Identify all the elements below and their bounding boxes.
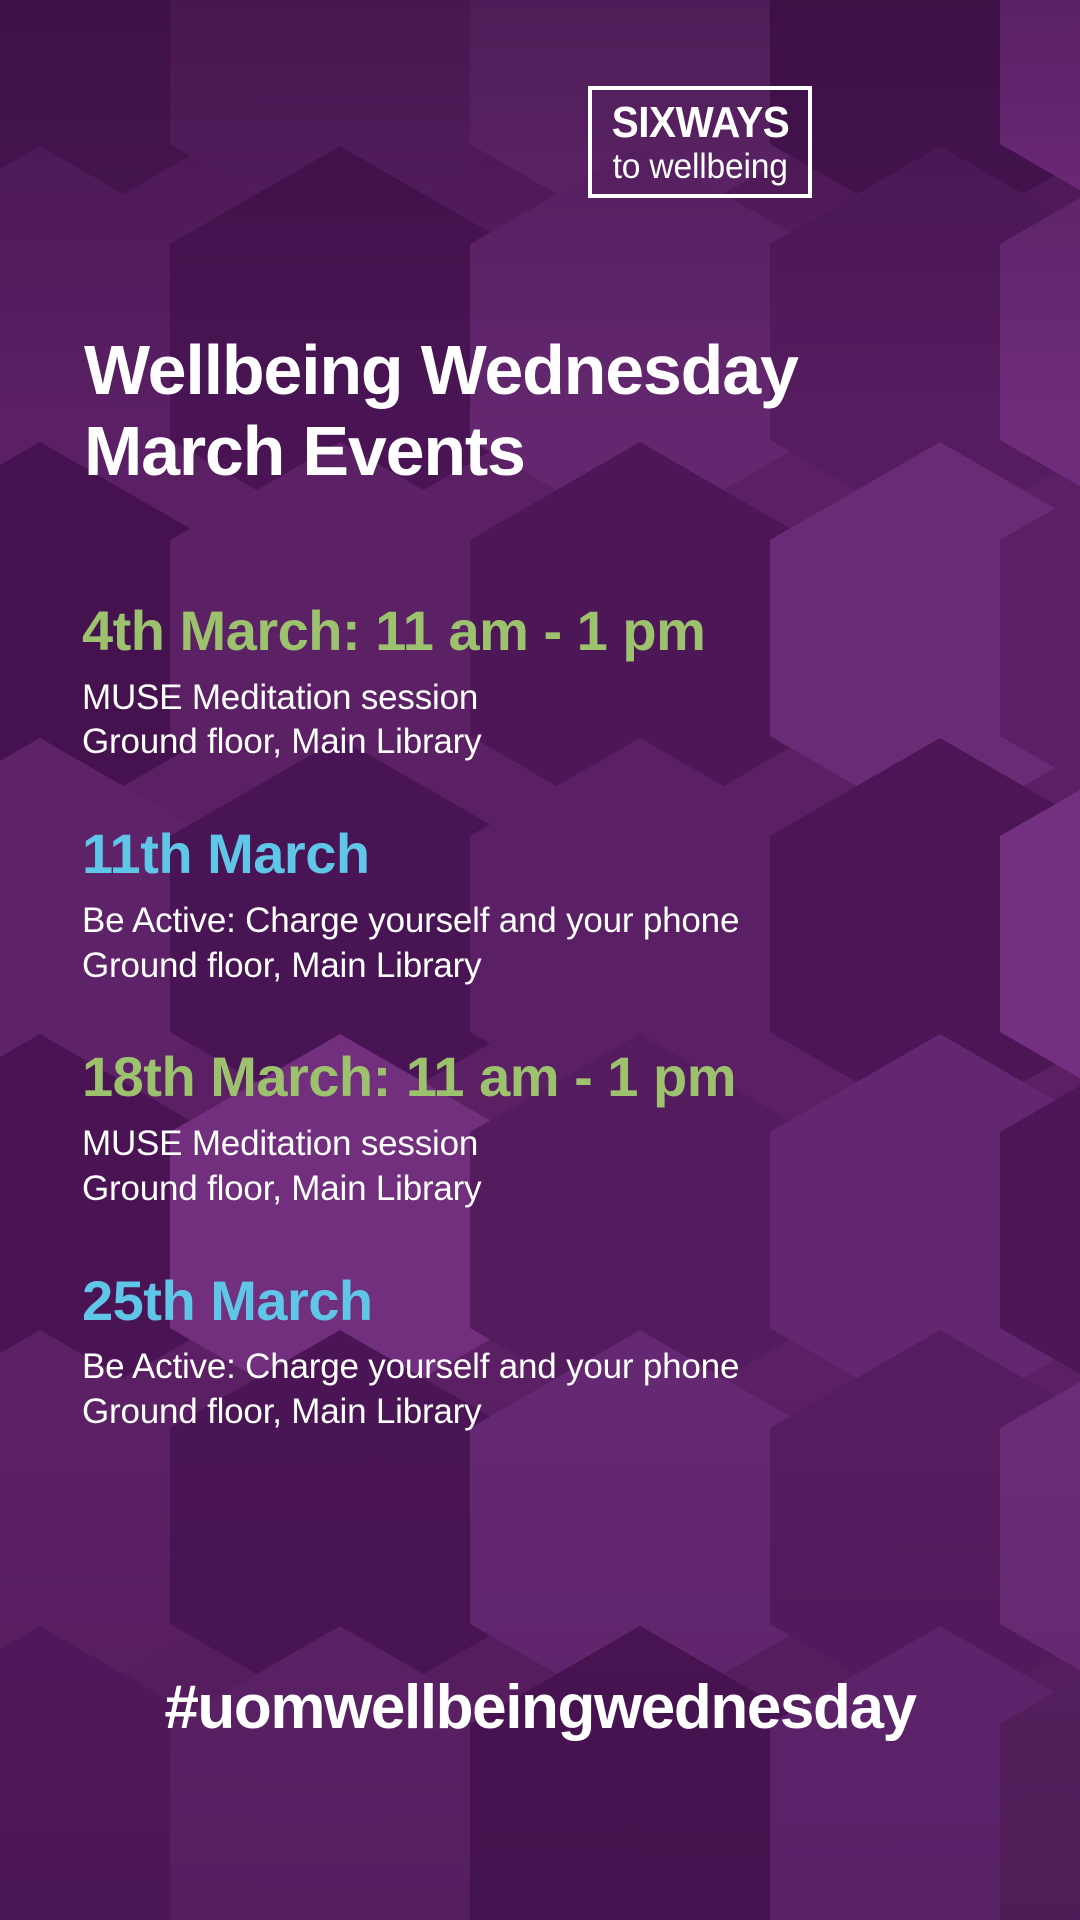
poster-content: SIXWAYS to wellbeing Wellbeing Wednesday… xyxy=(0,0,1080,1920)
event-date-heading: 25th March xyxy=(82,1270,1042,1332)
footer-hashtag: #uomwellbeingwednesday xyxy=(0,1672,1080,1743)
event-location: Ground floor, Main Library xyxy=(82,1167,1042,1212)
event-location: Ground floor, Main Library xyxy=(82,720,1042,765)
logo-tagline-to-wellbeing: to wellbeing xyxy=(612,149,787,184)
event-description: MUSE Meditation session xyxy=(82,1122,1042,1167)
poster-canvas: SIXWAYS to wellbeing Wellbeing Wednesday… xyxy=(0,0,1080,1920)
event-date-heading: 11th March xyxy=(82,823,1042,885)
logo-wordmark-sixways: SIXWAYS xyxy=(611,101,789,145)
event-description: MUSE Meditation session xyxy=(82,676,1042,721)
events-list: 4th March: 11 am - 1 pmMUSE Meditation s… xyxy=(82,600,1042,1435)
event-date-heading: 18th March: 11 am - 1 pm xyxy=(82,1046,1042,1108)
event-item: 11th MarchBe Active: Charge yourself and… xyxy=(82,823,1042,988)
event-item: 18th March: 11 am - 1 pmMUSE Meditation … xyxy=(82,1046,1042,1211)
event-location: Ground floor, Main Library xyxy=(82,944,1042,989)
event-description: Be Active: Charge yourself and your phon… xyxy=(82,899,1042,944)
page-title-line-2: March Events xyxy=(84,411,1004,492)
event-item: 4th March: 11 am - 1 pmMUSE Meditation s… xyxy=(82,600,1042,765)
event-description: Be Active: Charge yourself and your phon… xyxy=(82,1345,1042,1390)
page-title: Wellbeing Wednesday March Events xyxy=(84,330,1004,491)
event-item: 25th MarchBe Active: Charge yourself and… xyxy=(82,1270,1042,1435)
event-date-heading: 4th March: 11 am - 1 pm xyxy=(82,600,1042,662)
event-location: Ground floor, Main Library xyxy=(82,1390,1042,1435)
sixways-to-wellbeing-logo: SIXWAYS to wellbeing xyxy=(588,86,812,198)
page-title-line-1: Wellbeing Wednesday xyxy=(84,330,1004,411)
